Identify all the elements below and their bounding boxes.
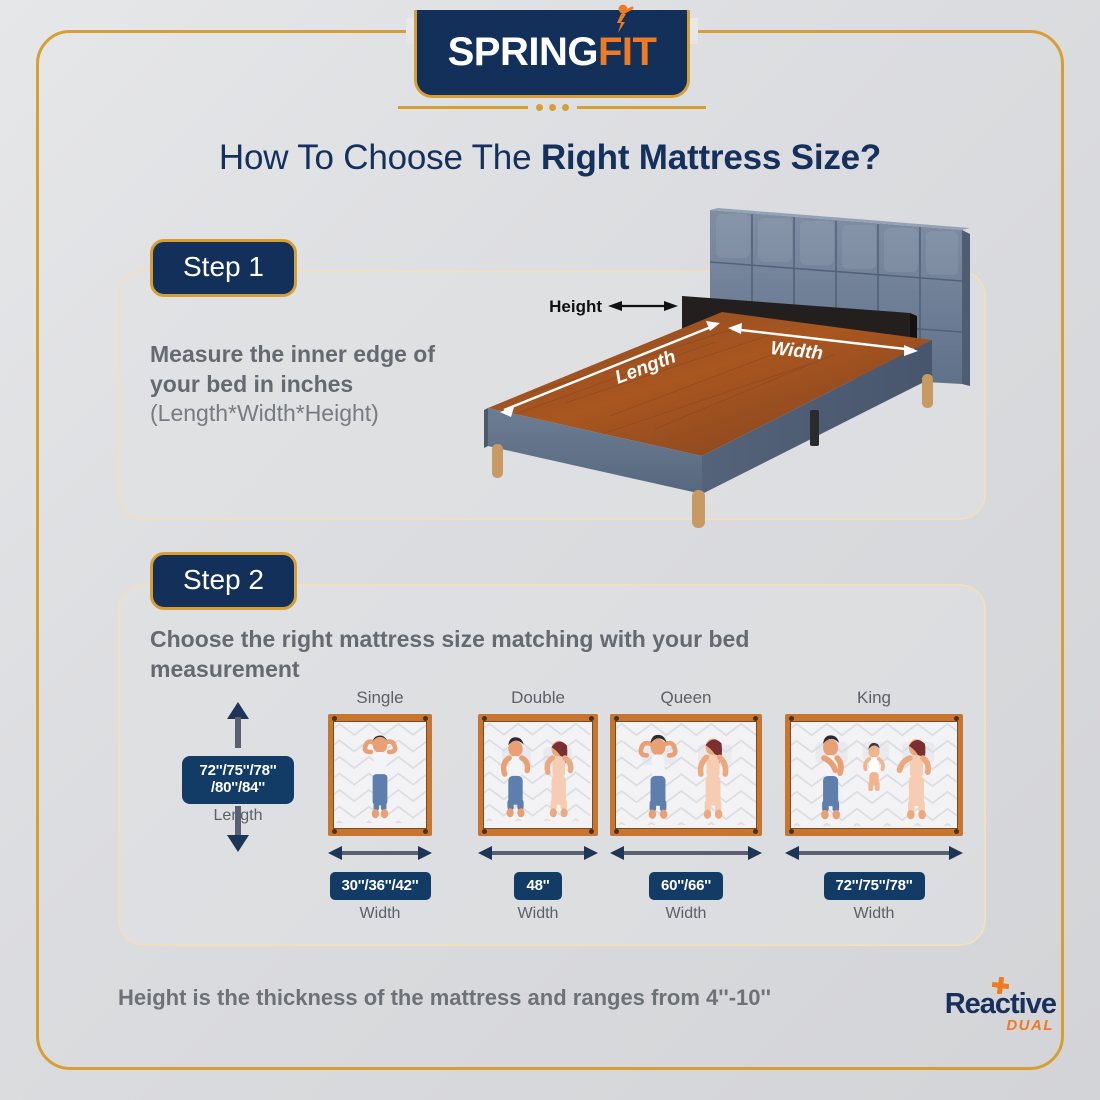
sleeper-figure-single — [334, 722, 426, 828]
size-column-queen: Queen — [586, 688, 786, 923]
page-title-bold: Right Mattress Size? — [541, 138, 881, 177]
logo-underline-ornament — [398, 100, 706, 114]
width-label-queen: Width — [586, 905, 786, 923]
width-value-king: 72''/75''/78'' — [824, 872, 925, 900]
sleeper-male — [821, 735, 841, 819]
plus-cross-icon — [992, 977, 1009, 994]
size-name-queen: Queen — [586, 688, 786, 708]
reactive-dual-logo: Reactive DUAL — [876, 990, 1056, 1033]
step-2-badge: Step 2 — [150, 552, 297, 610]
reactive-logo-sub: DUAL — [876, 1018, 1054, 1033]
width-arrow-double-icon — [478, 845, 598, 861]
running-figure-icon — [608, 4, 634, 34]
reactive-logo-main: Reactive — [945, 990, 1056, 1019]
width-value-single: 30''/36''/42'' — [330, 872, 431, 900]
width-arrow-king-icon — [785, 845, 963, 861]
sleeper-figures-double — [484, 722, 592, 828]
width-label-king: Width — [774, 905, 974, 923]
step-1-copy: Measure the inner edge of your bed in in… — [150, 340, 480, 429]
page-title: How To Choose The Right Mattress Size? — [0, 138, 1100, 178]
page-title-regular: How To Choose The — [219, 138, 541, 177]
width-arrow-single-icon — [328, 845, 432, 861]
size-column-king: King — [774, 688, 974, 923]
width-value-double: 48'' — [514, 872, 561, 900]
size-column-single: Single — [300, 688, 460, 923]
step-2-copy: Choose the right mattress size matching … — [150, 625, 870, 684]
length-arrow-up-icon — [225, 702, 251, 748]
sleeper-figures-queen — [616, 722, 756, 828]
mattress-size-chart: 72''/75''/78'' /80''/84'' Length Single — [150, 688, 970, 938]
mattress-frame-single — [328, 714, 432, 836]
brand-logo-text: SPRING FIT — [448, 30, 657, 75]
length-dimension-group: 72''/75''/78'' /80''/84'' Length — [182, 702, 294, 825]
length-value-line-2: /80''/84'' — [211, 779, 265, 796]
size-name-king: King — [774, 688, 974, 708]
size-name-single: Single — [300, 688, 460, 708]
bed-height-label: Height — [549, 297, 602, 316]
step-1-headline: Measure the inner edge of your bed in in… — [150, 341, 435, 397]
brand-logo-plate: SPRING FIT — [414, 10, 690, 98]
mattress-frame-king — [785, 714, 963, 836]
width-arrow-queen-icon — [610, 845, 762, 861]
length-value-badge: 72''/75''/78'' /80''/84'' — [182, 756, 294, 804]
width-value-queen: 60''/66'' — [649, 872, 723, 900]
footer-note: Height is the thickness of the mattress … — [118, 985, 771, 1011]
step-1-badge: Step 1 — [150, 239, 297, 297]
sleeper-figures-king — [791, 722, 957, 828]
step-1-subline: (Length*Width*Height) — [150, 399, 480, 429]
brand-logo-primary: SPRING — [448, 30, 598, 75]
brand-logo-accent: FIT — [598, 30, 656, 74]
mattress-frame-double — [478, 714, 598, 836]
length-arrow-down-icon — [225, 806, 251, 852]
mattress-frame-queen — [610, 714, 762, 836]
width-label-single: Width — [300, 905, 460, 923]
length-value-line-1: 72''/75''/78'' — [200, 762, 277, 779]
bed-illustration: Height Length Width — [470, 188, 980, 528]
